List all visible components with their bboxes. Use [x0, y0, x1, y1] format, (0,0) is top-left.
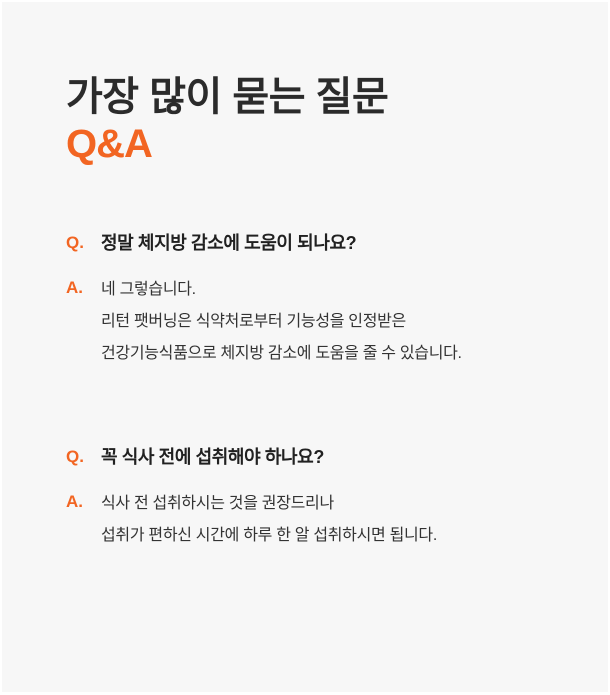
question-marker: Q.	[66, 444, 101, 470]
faq-list: Q. 정말 체지방 감소에 도움이 되나요? A. 네 그렇습니다. 리턴 팻버…	[66, 230, 568, 552]
faq-question-row[interactable]: Q. 꼭 식사 전에 섭취해야 하나요?	[66, 444, 568, 470]
faq-answer-row: A. 네 그렇습니다. 리턴 팻버닝은 식약처로부터 기능성을 인정받은 건강기…	[66, 274, 568, 370]
answer-line: 건강기능식품으로 체지방 감소에 도움을 줄 수 있습니다.	[101, 338, 462, 370]
faq-answer-row: A. 식사 전 섭취하시는 것을 권장드리나 섭취가 편하신 시간에 하루 한 …	[66, 488, 568, 552]
answer-line: 네 그렇습니다.	[101, 274, 462, 306]
faq-question-text: 정말 체지방 감소에 도움이 되나요?	[101, 230, 356, 256]
faq-question-row[interactable]: Q. 정말 체지방 감소에 도움이 되나요?	[66, 230, 568, 256]
faq-item: Q. 정말 체지방 감소에 도움이 되나요? A. 네 그렇습니다. 리턴 팻버…	[66, 230, 568, 370]
faq-answer-text: 네 그렇습니다. 리턴 팻버닝은 식약처로부터 기능성을 인정받은 건강기능식품…	[101, 274, 462, 370]
content-container: 가장 많이 묻는 질문 Q&A Q. 정말 체지방 감소에 도움이 되나요? A…	[2, 2, 608, 552]
question-marker: Q.	[66, 230, 101, 256]
answer-line: 섭취가 편하신 시간에 하루 한 알 섭취하시면 됩니다.	[101, 520, 437, 552]
page-title: 가장 많이 묻는 질문	[66, 74, 568, 121]
answer-marker: A.	[66, 274, 101, 301]
answer-line: 리턴 팻버닝은 식약처로부터 기능성을 인정받은	[101, 306, 462, 338]
faq-answer-text: 식사 전 섭취하시는 것을 권장드리나 섭취가 편하신 시간에 하루 한 알 섭…	[101, 488, 437, 552]
page-heading: 가장 많이 묻는 질문 Q&A	[66, 2, 568, 168]
page-subtitle-qa: Q&A	[66, 121, 568, 168]
answer-line: 식사 전 섭취하시는 것을 권장드리나	[101, 488, 437, 520]
faq-page: 가장 많이 묻는 질문 Q&A Q. 정말 체지방 감소에 도움이 되나요? A…	[0, 0, 610, 695]
faq-item: Q. 꼭 식사 전에 섭취해야 하나요? A. 식사 전 섭취하시는 것을 권장…	[66, 444, 568, 552]
faq-question-text: 꼭 식사 전에 섭취해야 하나요?	[101, 444, 324, 470]
answer-marker: A.	[66, 488, 101, 515]
